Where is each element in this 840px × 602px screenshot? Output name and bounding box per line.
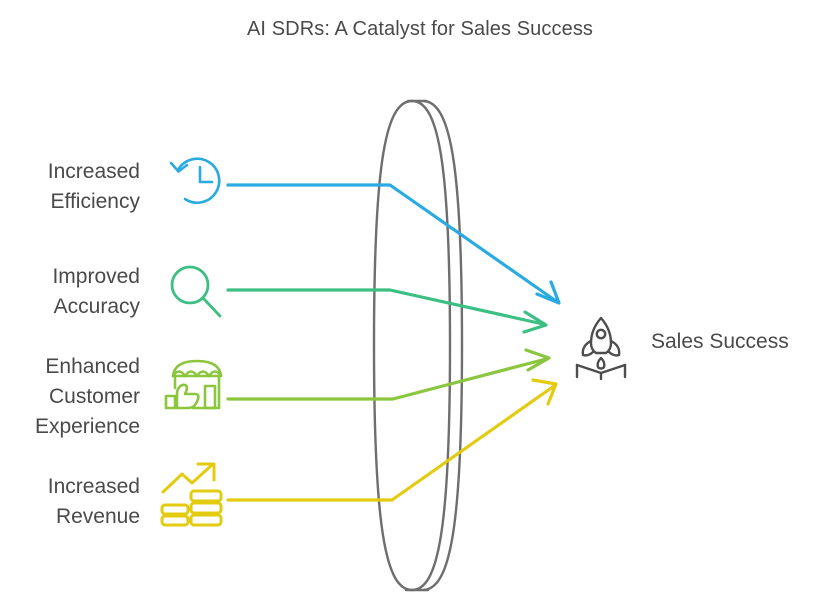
lens-shape	[374, 101, 462, 590]
node-label-efficiency: Increased Efficiency	[0, 157, 140, 217]
connector-experience	[228, 350, 549, 399]
connector-efficiency	[228, 185, 559, 303]
connector-accuracy	[228, 290, 546, 332]
node-label-accuracy: Improved Accuracy	[0, 262, 140, 322]
magnifier-icon	[166, 262, 226, 327]
node-label-experience: Enhanced Customer Experience	[0, 352, 140, 442]
node-label-revenue: Increased Revenue	[0, 472, 140, 532]
growth-coins-icon	[158, 458, 232, 537]
diagram-canvas: AI SDRs: A Catalyst for Sales Success	[0, 0, 840, 602]
node-label-line: Improved	[0, 262, 140, 292]
node-label-line: Customer	[0, 382, 140, 412]
storefront-thumbsup-icon	[163, 358, 231, 419]
node-label-line: Increased	[0, 472, 140, 502]
clock-rewind-icon	[164, 153, 226, 216]
node-label-line: Accuracy	[0, 292, 140, 322]
rocket-launch-icon	[565, 315, 637, 386]
node-label-line: Enhanced	[0, 352, 140, 382]
node-label-line: Increased	[0, 157, 140, 187]
node-label-line: Efficiency	[0, 187, 140, 217]
node-label-line: Revenue	[0, 502, 140, 532]
node-label-line: Experience	[0, 412, 140, 442]
outcome-label: Sales Success	[651, 330, 789, 354]
